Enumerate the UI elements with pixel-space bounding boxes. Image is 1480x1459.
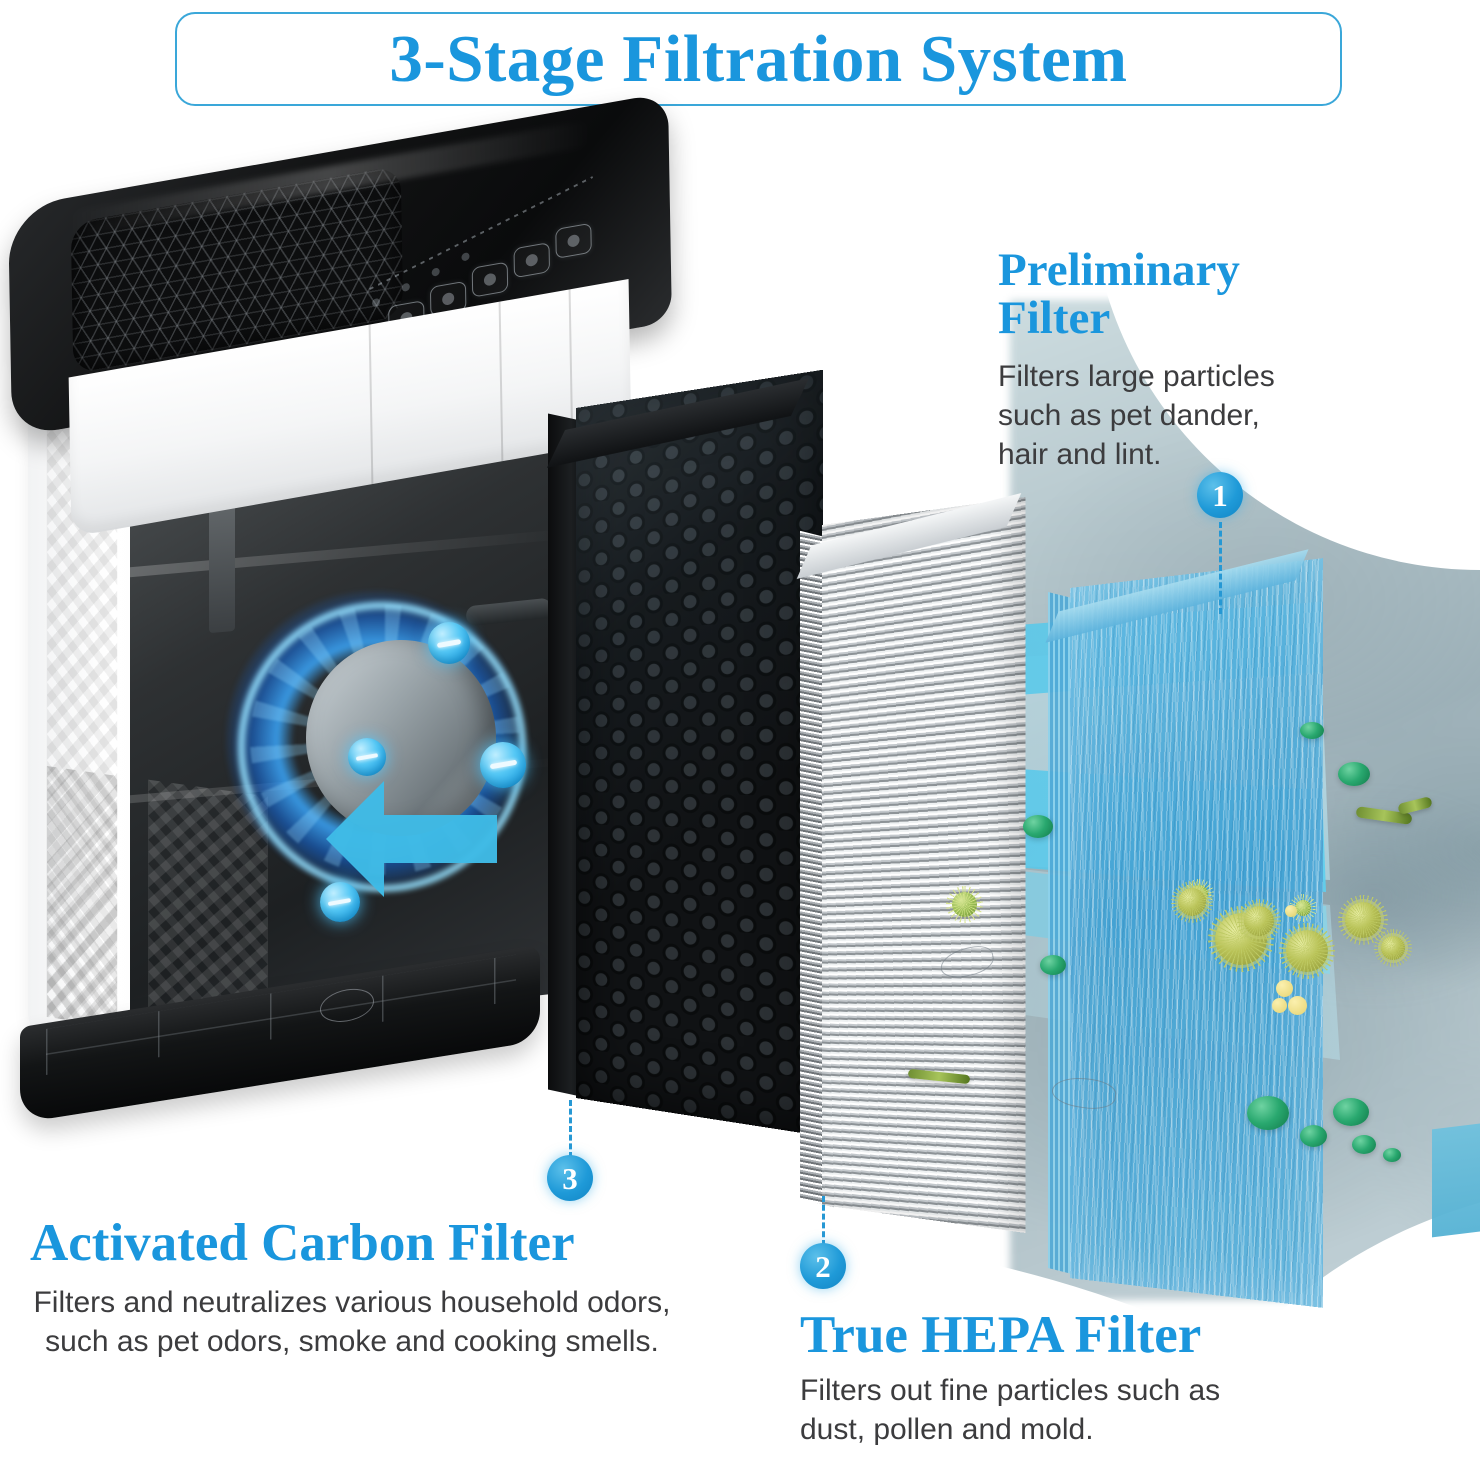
pollen-grain <box>1381 936 1405 960</box>
leader-line-3 <box>569 1100 572 1158</box>
bacteria-spore <box>1300 1125 1327 1147</box>
page-title: 3-Stage Filtration System <box>389 26 1127 93</box>
stage-badge-1: 1 <box>1197 472 1243 518</box>
activated-carbon-filter <box>548 408 816 1108</box>
callout-activated-carbon-filter: Activated Carbon Filter Filters and neut… <box>22 1216 682 1362</box>
bacteria-spore <box>1352 1135 1376 1154</box>
timer-icon[interactable] <box>472 261 509 297</box>
dust-clump <box>1285 905 1297 917</box>
negative-ion-icon <box>428 622 470 664</box>
bacteria-spore <box>1300 722 1324 739</box>
hepa-filter-pleated-face <box>822 497 1025 1233</box>
pollen-grain <box>1178 888 1206 916</box>
callout-hepa-filter: True HEPA Filter Filters out fine partic… <box>800 1308 1280 1450</box>
bacteria-spore <box>1023 815 1053 838</box>
infographic-canvas: 3-Stage Filtration System <box>0 0 1480 1459</box>
stage-heading-1: Preliminary Filter <box>998 246 1318 343</box>
stage-description-2: Filters out fine particles such as dust,… <box>800 1371 1280 1451</box>
stage-description-1: Filters large particles such as pet dand… <box>998 357 1318 474</box>
leader-line-2 <box>822 1196 825 1246</box>
virus-particle <box>952 892 977 917</box>
lock-icon[interactable] <box>555 223 592 259</box>
dust-clump <box>1272 998 1287 1013</box>
ionizer-icon[interactable] <box>513 242 550 278</box>
pollen-grain <box>1345 902 1381 938</box>
panel-seam <box>369 324 373 484</box>
indicator-dot <box>461 252 469 261</box>
bacteria-spore <box>1333 1098 1369 1126</box>
carbon-filter-sheen <box>576 370 823 1137</box>
vent-pattern-lower <box>47 766 117 1022</box>
bacteria-spore <box>1040 955 1066 975</box>
dust-clump <box>1276 980 1293 997</box>
callout-preliminary-filter: Preliminary Filter Filters large particl… <box>998 246 1318 474</box>
stage-description-3: Filters and neutralizes various househol… <box>22 1283 682 1363</box>
pollen-grain <box>1244 906 1274 936</box>
hepa-filter <box>800 525 1030 1225</box>
indicator-dot <box>432 267 440 276</box>
pollen-grain <box>1286 930 1328 972</box>
indicator-dot <box>372 298 380 307</box>
bacteria-spore <box>1247 1096 1289 1130</box>
indicator-dot <box>402 283 410 292</box>
virus-particle <box>1295 900 1311 916</box>
preliminary-filter <box>1048 588 1318 1308</box>
airflow-arrow-icon <box>322 775 502 903</box>
bacteria-spore <box>1383 1148 1401 1162</box>
panel-seam <box>499 302 503 462</box>
dust-mite <box>1397 796 1433 815</box>
interior-ledge-upper <box>130 529 570 577</box>
bacteria-spore <box>1338 762 1370 786</box>
teal-panel-fragment <box>1432 1115 1480 1238</box>
title-banner: 3-Stage Filtration System <box>175 12 1342 106</box>
dust-clump <box>1288 996 1307 1015</box>
negative-ion-icon <box>348 738 386 776</box>
stage-heading-3: Activated Carbon Filter <box>30 1216 682 1271</box>
stage-heading-2: True HEPA Filter <box>800 1308 1280 1363</box>
stage-badge-2: 2 <box>800 1243 846 1289</box>
leader-line-1 <box>1219 522 1222 614</box>
stage-badge-3: 3 <box>547 1155 593 1201</box>
